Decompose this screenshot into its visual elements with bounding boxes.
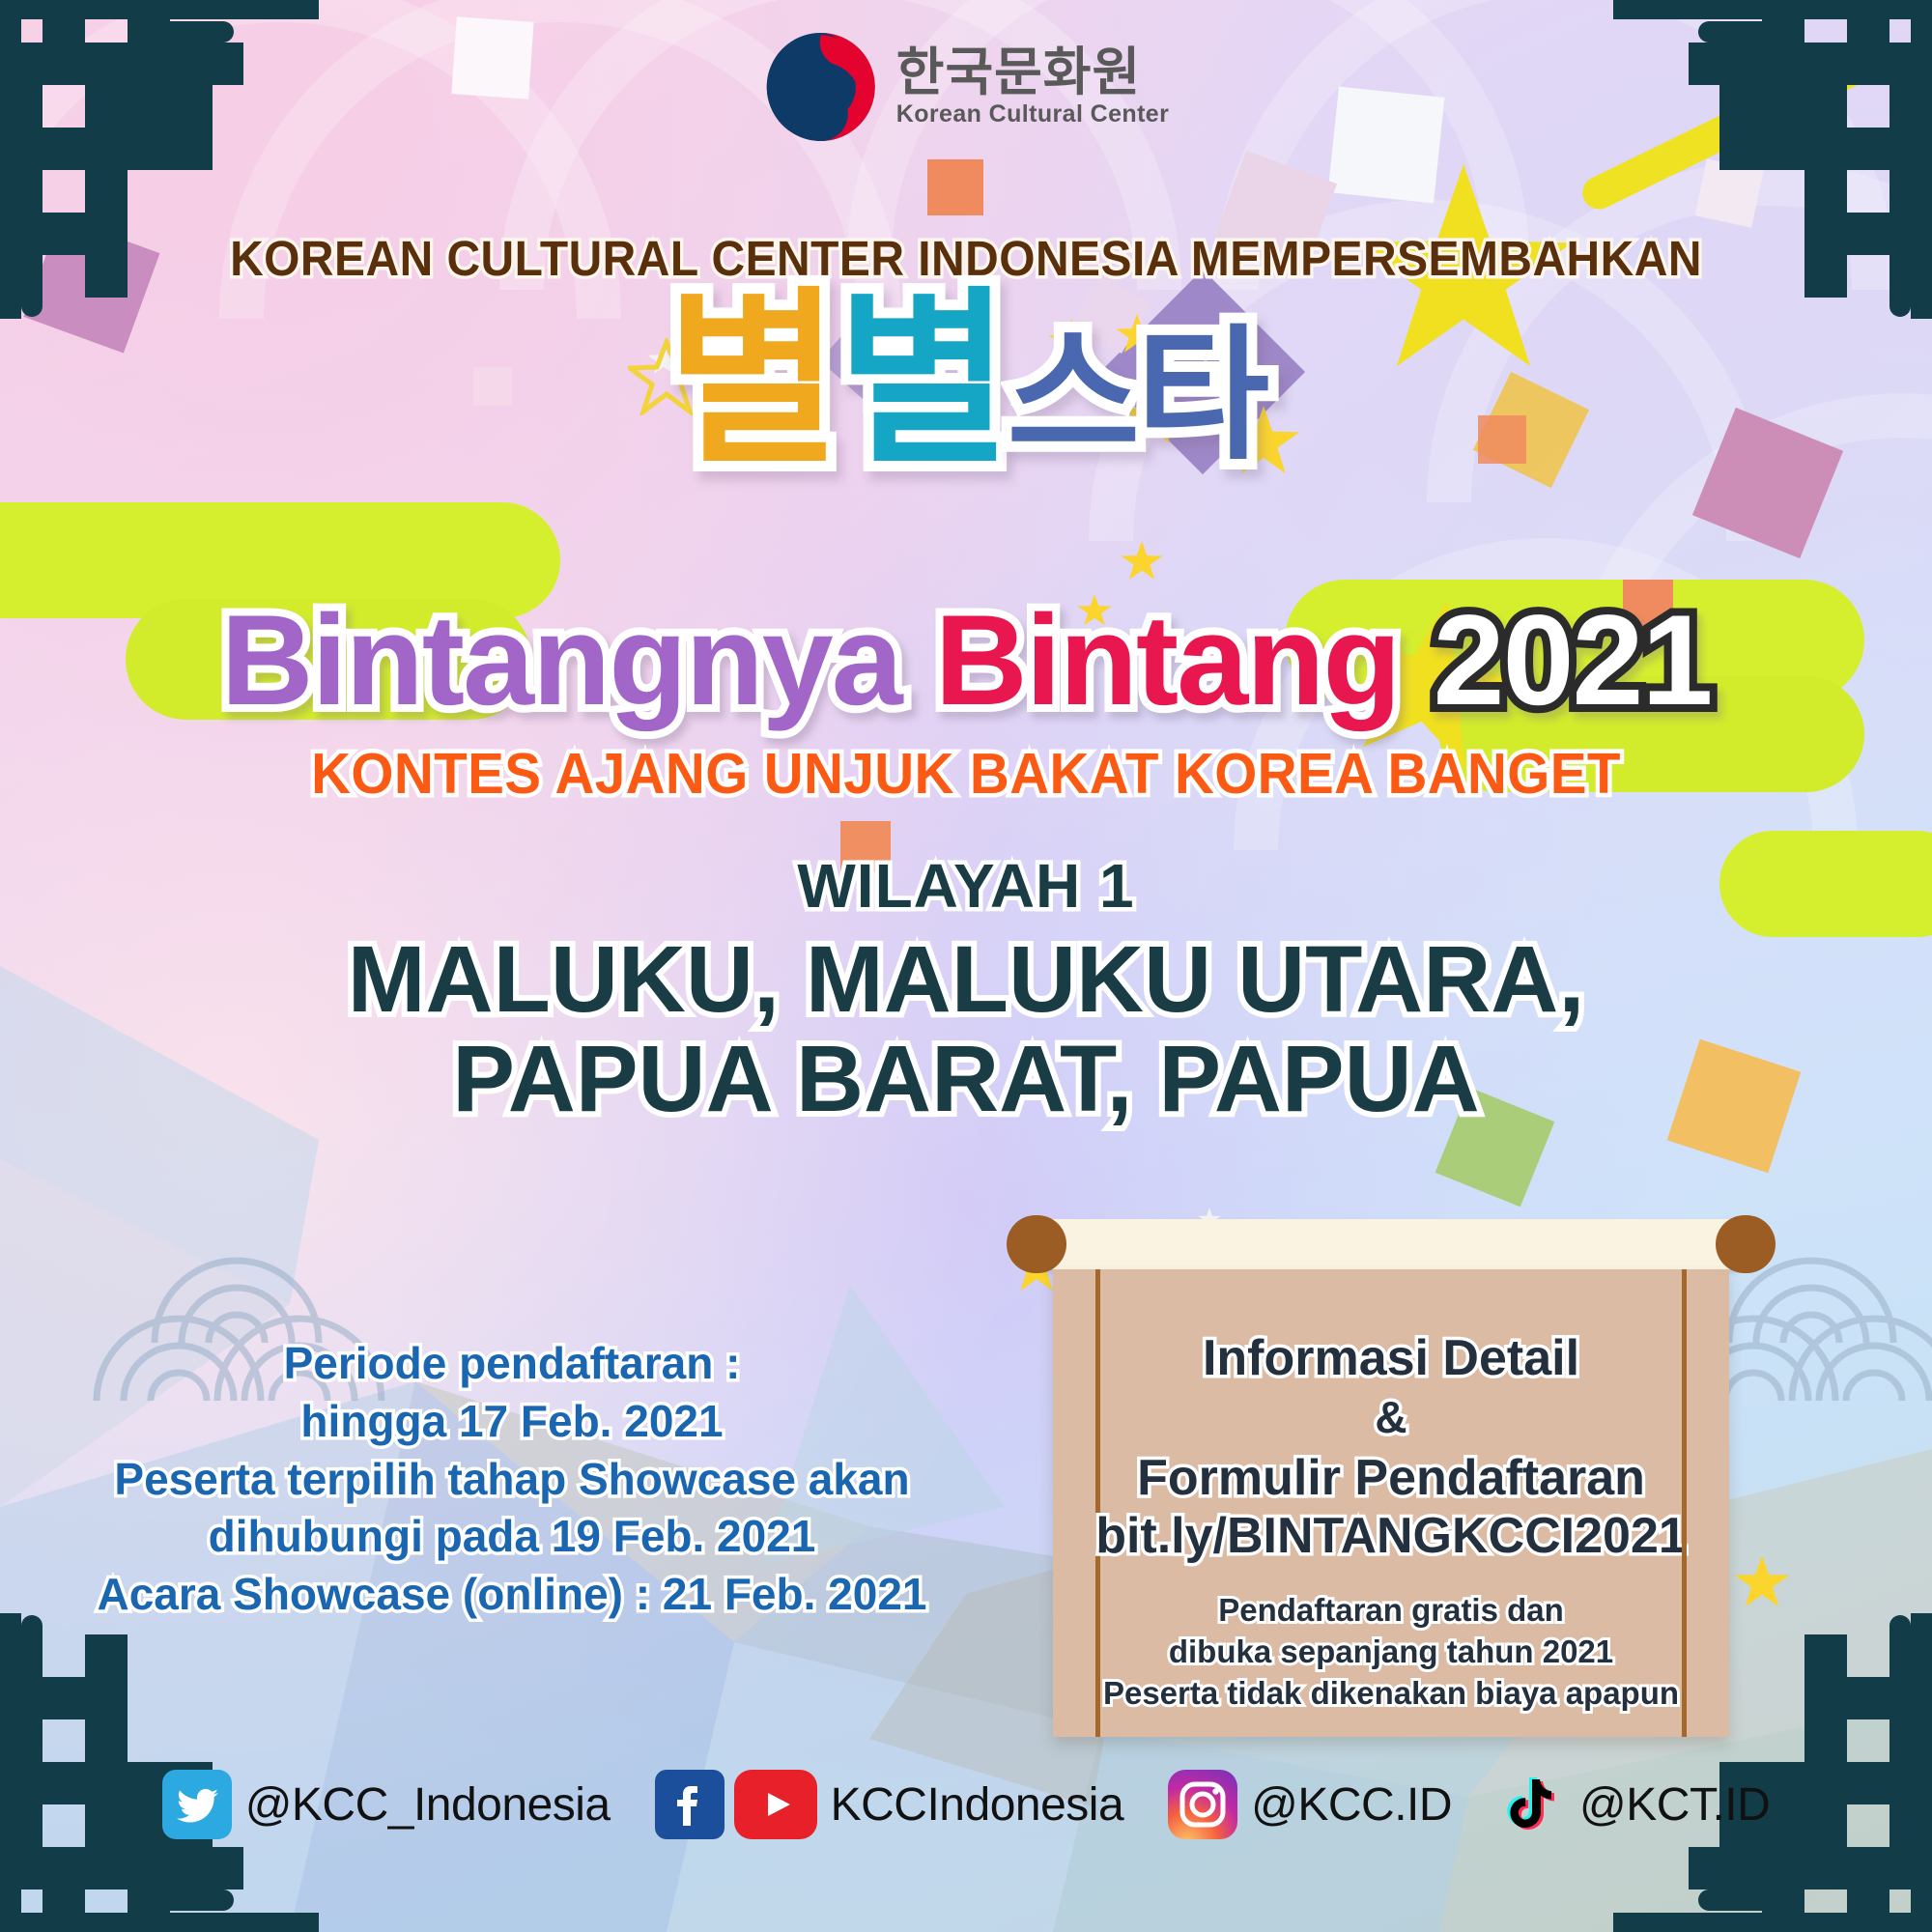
schedule-line-5: Acara Showcase (online) : 21 Feb. 2021 [58,1566,966,1624]
tiktok-icon[interactable] [1496,1770,1566,1839]
poster-canvas: 한국문화원 Korean Cultural Center KOREAN CULT… [0,0,1932,1932]
social-instagram[interactable]: @KCC.ID [1168,1770,1452,1839]
scroll-knob-left [1007,1215,1066,1273]
korean-title-char1: 별 [667,274,837,486]
scroll-subheading: Formulir Pendaftaran [1086,1449,1696,1507]
social-facebook-youtube[interactable]: KCCIndonesia [655,1770,1124,1839]
korean-title: 별별스타 [0,286,1932,475]
region-label: WILAYAH 1 [0,850,1932,922]
scroll-note-line-1: Pendaftaran gratis dan [1086,1590,1696,1632]
social-tiktok[interactable]: @KCT.ID [1496,1770,1770,1839]
latin-title-word2: Bintang [935,589,1400,732]
social-bar: @KCC_Indonesia KCCIndonesia [0,1770,1932,1839]
scroll-body: Informasi Detail & Formulir Pendaftaran … [1053,1269,1729,1737]
latin-title-year: 2021 [1434,589,1712,732]
info-scroll-banner: Informasi Detail & Formulir Pendaftaran … [1053,1215,1729,1737]
scroll-rod-bar [1045,1219,1737,1269]
schedule-block: Periode pendaftaran : hingga 17 Feb. 202… [58,1335,966,1624]
scroll-note: Pendaftaran gratis dan dibuka sepanjang … [1086,1590,1696,1715]
twitter-icon[interactable] [162,1770,232,1839]
scroll-heading: Informasi Detail [1086,1329,1696,1387]
kcc-logo-english: Korean Cultural Center [896,100,1169,128]
schedule-line-4: dihubungi pada 19 Feb. 2021 [58,1508,966,1566]
instagram-handle: @KCC.ID [1251,1778,1452,1832]
region-line-1: MALUKU, MALUKU UTARA, [0,930,1932,1030]
facebook-icon[interactable] [655,1770,724,1839]
region-line-2: PAPUA BARAT, PAPUA [0,1030,1932,1129]
scroll-rod [1007,1215,1776,1273]
korean-title-star: 스타 [1007,314,1265,476]
facebook-youtube-handle: KCCIndonesia [831,1778,1124,1832]
schedule-line-1: Periode pendaftaran : [58,1335,966,1393]
kcc-logo-text: 한국문화원 Korean Cultural Center [896,46,1169,128]
scroll-knob-right [1716,1215,1776,1273]
schedule-line-3: Peserta terpilih tahap Showcase akan [58,1451,966,1509]
tagline: KONTES AJANG UNJUK BAKAT KOREA BANGET [39,741,1893,807]
latin-title: Bintangnya Bintang 2021 [0,587,1932,734]
social-twitter[interactable]: @KCC_Indonesia [162,1770,611,1839]
taegeuk-icon [763,29,879,145]
scroll-content: Informasi Detail & Formulir Pendaftaran … [1053,1269,1729,1737]
kcc-logo-korean: 한국문화원 [896,46,1169,99]
scroll-ampersand: & [1086,1391,1696,1443]
scroll-note-line-3: Peserta tidak dikenakan biaya apapun [1086,1673,1696,1715]
tiktok-handle: @KCT.ID [1579,1778,1770,1832]
registration-url[interactable]: bit.ly/BINTANGKCCI2021 [1086,1507,1696,1565]
latin-title-word1: Bintangnya [221,589,901,732]
scroll-note-line-2: dibuka sepanjang tahun 2021 [1086,1632,1696,1673]
instagram-icon[interactable] [1168,1770,1237,1839]
region-names: MALUKU, MALUKU UTARA, PAPUA BARAT, PAPUA [0,930,1932,1129]
korean-title-char2: 별 [837,274,1007,486]
youtube-icon[interactable] [734,1770,817,1839]
schedule-line-2: hingga 17 Feb. 2021 [58,1393,966,1451]
twitter-handle: @KCC_Indonesia [245,1778,611,1832]
kcc-logo: 한국문화원 Korean Cultural Center [763,29,1169,145]
poster-content: 한국문화원 Korean Cultural Center KOREAN CULT… [0,0,1932,1932]
